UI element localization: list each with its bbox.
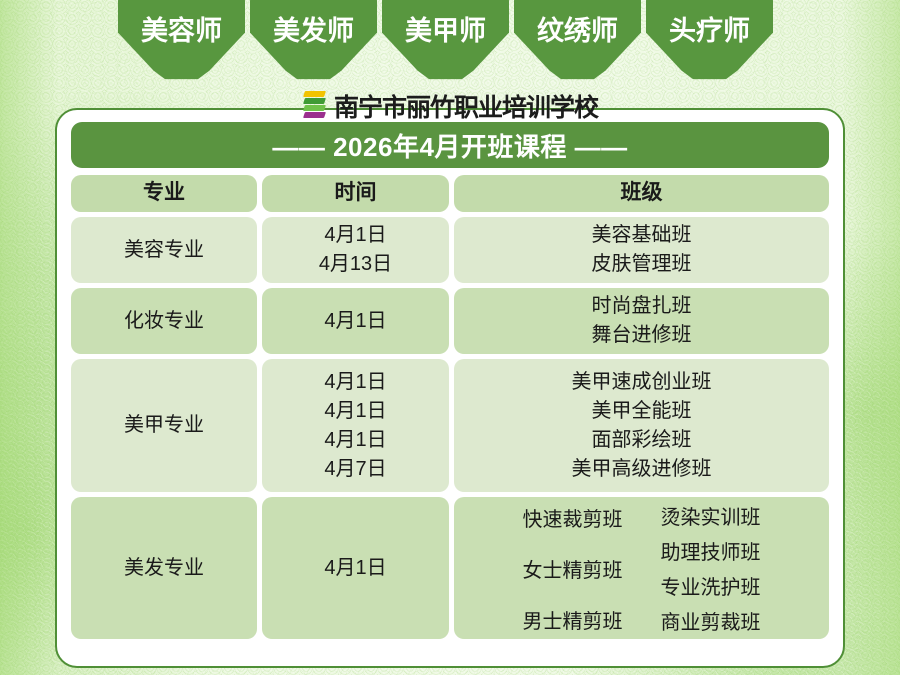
major-label: 美发专业 <box>124 554 204 583</box>
table-row[interactable]: 化妆专业 4月1日 时尚盘扎班 舞台进修班 <box>71 288 829 354</box>
time-label: 4月1日 <box>324 307 386 336</box>
table-header-row: 专业 时间 班级 <box>71 175 829 212</box>
class-label: 男士精剪班 <box>523 605 623 634</box>
badge-scalp-therapist[interactable]: 头疗师 <box>646 0 773 82</box>
table-header-time: 时间 <box>262 175 449 212</box>
time-label: 4月1日 4月1日 4月1日 4月7日 <box>324 368 386 484</box>
class-two-column-group: 快速裁剪班 女士精剪班 男士精剪班 烫染实训班 助理技师班 专业洗护班 商业剪裁… <box>454 497 829 639</box>
class-column-left: 快速裁剪班 女士精剪班 男士精剪班 <box>523 503 623 634</box>
cell-major: 美发专业 <box>71 497 257 639</box>
class-label: 烫染实训班 <box>661 501 761 530</box>
cell-major: 美容专业 <box>71 217 257 283</box>
badge-label: 纹绣师 <box>537 9 618 48</box>
badge-tattoo-embroiderer[interactable]: 纹绣师 <box>514 0 641 82</box>
cell-time: 4月1日 4月1日 4月1日 4月7日 <box>262 359 449 492</box>
major-label: 化妆专业 <box>124 307 204 336</box>
major-label: 美容专业 <box>124 236 204 265</box>
cell-time: 4月1日 <box>262 497 449 639</box>
header-label: 时间 <box>335 178 377 208</box>
badge-hairdresser[interactable]: 美发师 <box>250 0 377 82</box>
class-label: 专业洗护班 <box>661 571 761 600</box>
class-label: 助理技师班 <box>661 536 761 565</box>
cell-major: 美甲专业 <box>71 359 257 492</box>
header-label: 专业 <box>143 178 185 208</box>
table-row[interactable]: 美甲专业 4月1日 4月1日 4月1日 4月7日 美甲速成创业班 美甲全能班 面… <box>71 359 829 492</box>
cell-class: 美甲速成创业班 美甲全能班 面部彩绘班 美甲高级进修班 <box>454 359 829 492</box>
course-schedule-card: —— 2026年4月开班课程 —— 专业 时间 班级 美容专业 4月1日 4月1… <box>55 108 845 668</box>
header-label: 班级 <box>621 178 663 208</box>
table-header-major: 专业 <box>71 175 257 212</box>
class-label: 时尚盘扎班 舞台进修班 <box>592 292 692 350</box>
page-title: —— 2026年4月开班课程 —— <box>272 127 627 164</box>
class-column-right: 烫染实训班 助理技师班 专业洗护班 商业剪裁班 <box>661 501 761 635</box>
time-label: 4月1日 4月13日 <box>319 221 392 279</box>
class-label: 女士精剪班 <box>523 554 623 583</box>
badge-label: 美发师 <box>273 9 354 48</box>
cell-class: 快速裁剪班 女士精剪班 男士精剪班 烫染实训班 助理技师班 专业洗护班 商业剪裁… <box>454 497 829 639</box>
title-banner: —— 2026年4月开班课程 —— <box>71 122 829 168</box>
cell-class: 时尚盘扎班 舞台进修班 <box>454 288 829 354</box>
cell-time: 4月1日 <box>262 288 449 354</box>
time-label: 4月1日 <box>324 554 386 583</box>
table-header-class: 班级 <box>454 175 829 212</box>
lizhu-logo-icon <box>302 91 328 121</box>
cell-time: 4月1日 4月13日 <box>262 217 449 283</box>
badge-label: 美容师 <box>141 9 222 48</box>
badge-label: 美甲师 <box>405 9 486 48</box>
cell-major: 化妆专业 <box>71 288 257 354</box>
badge-nail-artist[interactable]: 美甲师 <box>382 0 509 82</box>
cell-class: 美容基础班 皮肤管理班 <box>454 217 829 283</box>
class-label: 商业剪裁班 <box>661 606 761 635</box>
class-label: 美容基础班 皮肤管理班 <box>592 221 692 279</box>
course-table: 专业 时间 班级 美容专业 4月1日 4月13日 美容基础班 皮肤管理班 <box>71 175 829 639</box>
class-label: 快速裁剪班 <box>523 503 623 532</box>
school-name: 南宁市丽竹职业培训学校 <box>334 88 598 124</box>
badge-label: 头疗师 <box>669 9 750 48</box>
table-row[interactable]: 美发专业 4月1日 快速裁剪班 女士精剪班 男士精剪班 烫染实训班 助理技师班 … <box>71 497 829 639</box>
major-label: 美甲专业 <box>124 411 204 440</box>
profession-badge-row: 美容师 美发师 美甲师 纹绣师 头疗师 <box>118 0 784 82</box>
school-logo-row: 南宁市丽竹职业培训学校 <box>0 88 900 124</box>
class-label: 美甲速成创业班 美甲全能班 面部彩绘班 美甲高级进修班 <box>572 368 712 484</box>
table-row[interactable]: 美容专业 4月1日 4月13日 美容基础班 皮肤管理班 <box>71 217 829 283</box>
badge-beautician[interactable]: 美容师 <box>118 0 245 82</box>
